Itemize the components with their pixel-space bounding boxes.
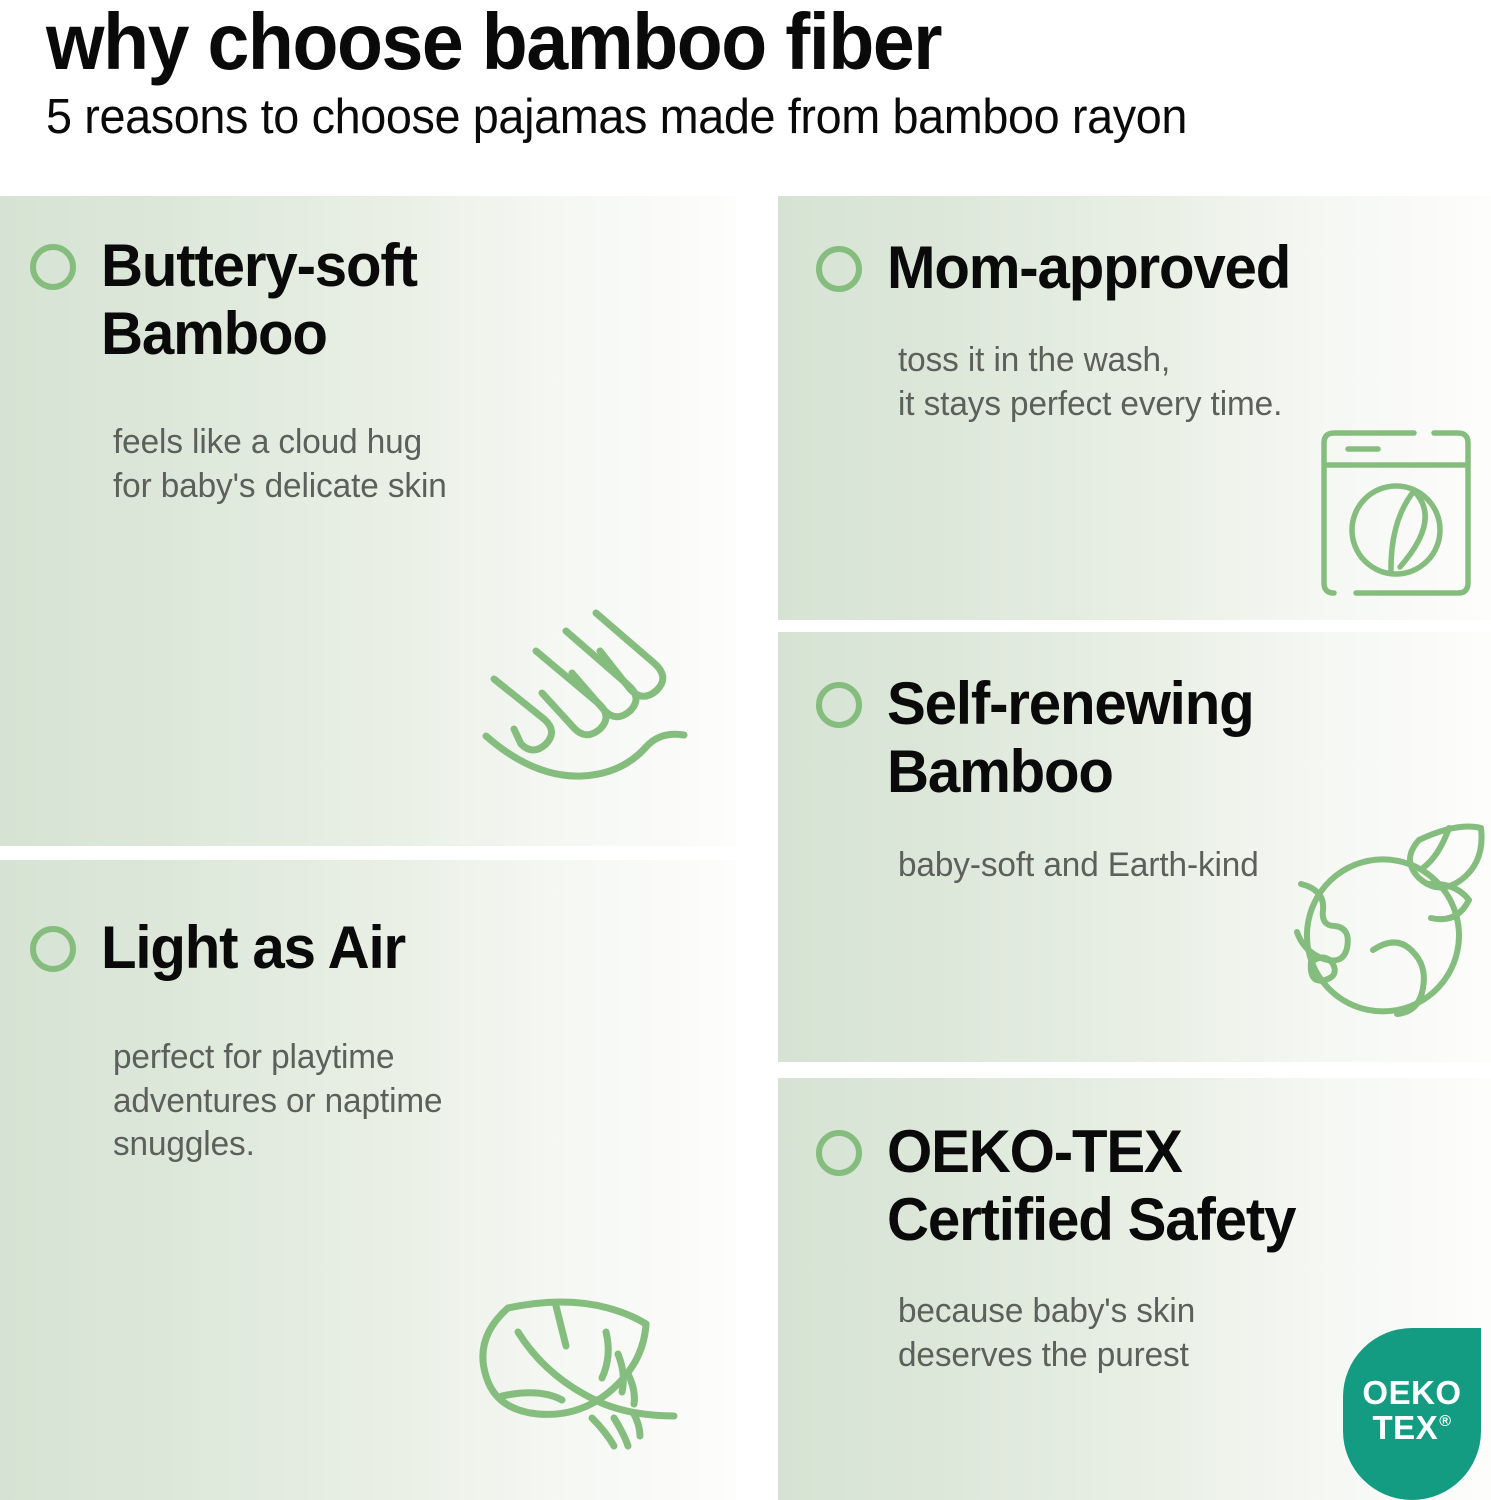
page-title: why choose bamboo fiber xyxy=(46,0,941,88)
washing-machine-icon xyxy=(1316,425,1476,600)
page-subtitle: 5 reasons to choose pajamas made from ba… xyxy=(46,88,1187,147)
card-body-text: perfect for playtime adventures or napti… xyxy=(113,1036,442,1167)
feature-card-oeko-tex-certified-safety: OEKO-TEX Certified Safety because baby's… xyxy=(778,1078,1491,1500)
card-title: Mom-approved xyxy=(887,234,1290,302)
card-title: Self-renewing Bamboo xyxy=(887,670,1253,806)
circle-bullet-icon xyxy=(30,244,76,290)
feather-icon xyxy=(466,1270,711,1465)
circle-bullet-icon xyxy=(30,926,76,972)
oeko-badge-line1: OEKO xyxy=(1362,1376,1461,1411)
feature-card-self-renewing-bamboo: Self-renewing Bamboo baby-soft and Earth… xyxy=(778,632,1491,1062)
infographic-page: why choose bamboo fiber 5 reasons to cho… xyxy=(0,0,1491,1500)
card-title: Light as Air xyxy=(101,914,405,982)
oeko-badge-line2: TEX ® xyxy=(1373,1411,1452,1446)
oeko-tex-badge: OEKO TEX ® xyxy=(1343,1328,1481,1500)
card-body-text: because baby's skin deserves the purest xyxy=(898,1290,1195,1377)
feature-card-mom-approved: Mom-approved toss it in the wash, it sta… xyxy=(778,196,1491,620)
earth-leaf-icon xyxy=(1281,822,1491,1022)
card-heading: Mom-approved xyxy=(816,234,1303,302)
feature-card-light-as-air: Light as Air perfect for playtime advent… xyxy=(0,860,736,1500)
circle-bullet-icon xyxy=(816,682,862,728)
card-body-text: baby-soft and Earth-kind xyxy=(898,844,1259,888)
card-heading: Buttery-soft Bamboo xyxy=(30,232,427,368)
oeko-badge-tex-text: TEX xyxy=(1373,1411,1439,1446)
registered-trademark-icon: ® xyxy=(1439,1414,1451,1430)
card-title: OEKO-TEX Certified Safety xyxy=(887,1118,1295,1254)
circle-bullet-icon xyxy=(816,1130,862,1176)
circle-bullet-icon xyxy=(816,246,862,292)
card-heading: OEKO-TEX Certified Safety xyxy=(816,1118,1308,1254)
card-heading: Light as Air xyxy=(30,914,414,982)
card-heading: Self-renewing Bamboo xyxy=(816,670,1265,806)
header: why choose bamboo fiber 5 reasons to cho… xyxy=(0,0,1491,196)
card-title: Buttery-soft Bamboo xyxy=(101,232,417,368)
feature-card-grid: Buttery-soft Bamboo feels like a cloud h… xyxy=(0,196,1491,1500)
card-body-text: feels like a cloud hug for baby's delica… xyxy=(113,421,447,508)
soft-hand-icon xyxy=(476,601,726,796)
card-body-text: toss it in the wash, it stays perfect ev… xyxy=(898,339,1282,426)
feature-card-buttery-soft-bamboo: Buttery-soft Bamboo feels like a cloud h… xyxy=(0,196,736,846)
